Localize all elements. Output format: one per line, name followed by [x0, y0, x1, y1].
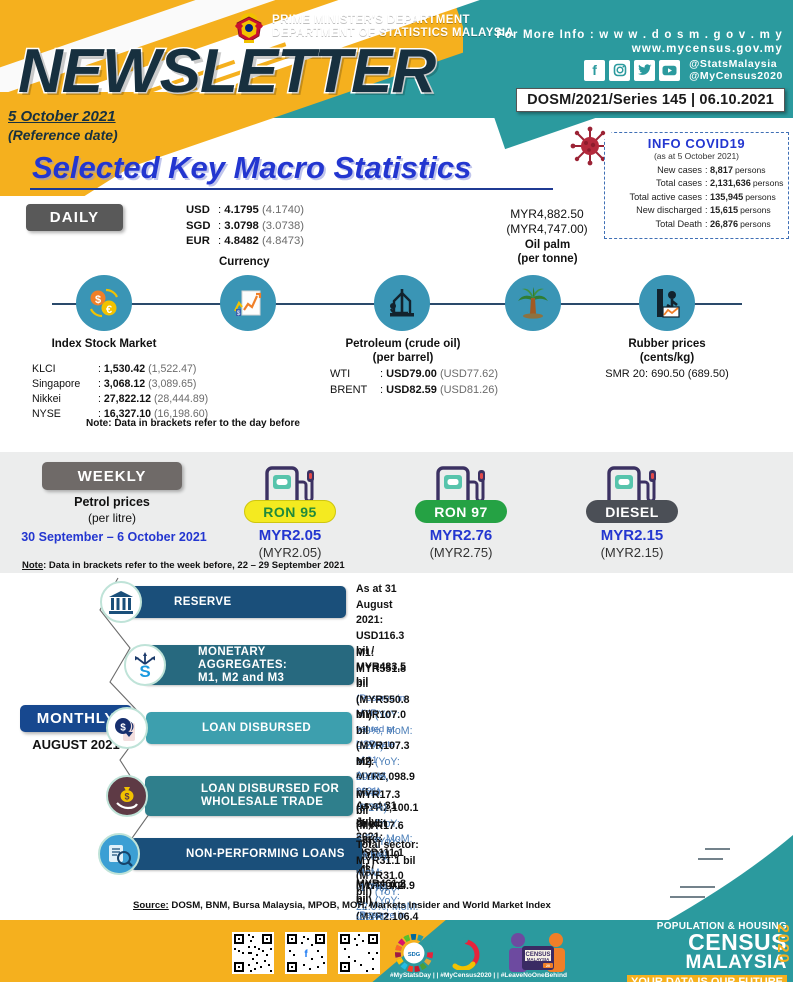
stock-previous: (3,089.65) [148, 378, 196, 390]
petroleum-value: USD79.00 [386, 368, 437, 380]
svg-text:$: $ [120, 723, 126, 734]
covid-unit: persons [735, 164, 766, 177]
currency-rates: USD: 4.1795 (4.1740) SGD: 3.0798 (3.0738… [186, 203, 304, 250]
stock-name: Nikkei [32, 392, 98, 407]
twitter-icon[interactable] [634, 60, 655, 81]
census-wordmark-line-2: CENSUS [577, 932, 787, 953]
series-badge: DOSM/2021/Series 145 | 06.10.2021 [516, 88, 785, 112]
source-text: DOSM, BNM, Bursa Malaysia, MPOB, MOH, Ma… [169, 900, 551, 911]
covid-label: New cases [605, 164, 705, 177]
handle-mycensus2020: @MyCensus2020 [689, 70, 783, 82]
census-wordmark: POPULATION & HOUSING CENSUS MALAYSIA YOU… [577, 921, 787, 982]
daily-badge: DAILY [26, 204, 123, 231]
instagram-icon[interactable] [609, 60, 630, 81]
covid-unit: persons [740, 218, 771, 231]
oil-pump-icon [374, 275, 430, 331]
qr-code-icon[interactable] [232, 932, 274, 974]
covid-value: 135,945 [710, 191, 745, 204]
stock-value: 27,822.12 [104, 393, 151, 405]
stock-previous: (28,444.89) [154, 393, 208, 405]
covid-unit: persons [745, 191, 776, 204]
fx-previous: (4.1740) [262, 204, 304, 216]
oilpalm-value: MYR4,882.50 [497, 207, 597, 221]
newsletter-wordmark: NEWSLETTER [18, 36, 435, 107]
covid-row: Total cases : 2,131,636 persons [605, 177, 788, 190]
oilpalm-previous: (MYR4,747.00) [497, 222, 597, 236]
fuel-label-ron95: RON 95 [244, 500, 336, 523]
fuel-price-ron95: MYR2.05 [210, 527, 370, 544]
svg-text:MALAYSIA: MALAYSIA [527, 957, 550, 962]
census-mascot-icon: CENSUS MALAYSIA 20 [498, 930, 576, 976]
rubber-price-row: SMR 20: 690.50 (689.50) [597, 368, 737, 380]
mystatsday-icon [443, 936, 481, 970]
covid-value: 15,615 [710, 204, 740, 217]
covid-row: New cases : 8,817 persons [605, 164, 788, 177]
petroleum-name: WTI [330, 366, 380, 382]
money-bag-hand-icon: $ [106, 775, 148, 817]
reference-date-label: (Reference date) [8, 127, 118, 143]
fx-value: 4.8482 [224, 235, 259, 247]
loan-money-icon: $ [106, 707, 148, 749]
qr-code-icon[interactable] [338, 932, 380, 974]
fuel-label-ron97: RON 97 [415, 500, 507, 523]
petroleum-previous: (USD81.26) [440, 384, 498, 396]
fuel-price-diesel: MYR2.15 [552, 527, 712, 544]
rubber-caption: Rubber prices (cents/kg) [600, 337, 734, 365]
stock-row: Nikkei: 27,822.12 (28,444.89) [32, 392, 208, 407]
petroleum-row: WTI: USD79.00 (USD77.62) [330, 366, 498, 382]
non-performing-loan-icon [98, 833, 140, 875]
oilpalm-caption-line-1: Oil palm [525, 239, 570, 251]
stock-row: KLCI: 1,530.42 (1,522.47) [32, 362, 208, 377]
covid-info-box: INFO COVID19 (as at 5 October 2021) New … [604, 132, 789, 239]
youtube-icon[interactable] [659, 60, 680, 81]
oilpalm-caption-line-2: (per tonne) [517, 253, 577, 265]
svg-text:$: $ [124, 792, 129, 802]
fx-row: USD: 4.1795 (4.1740) [186, 203, 304, 219]
covid-label: New discharged [605, 204, 705, 217]
facebook-icon[interactable]: f [584, 60, 605, 81]
wholesale-label-line-1: LOAN DISBURSED FOR [201, 783, 339, 796]
census-tagline: YOUR DATA IS OUR FUTURE [627, 975, 787, 982]
fuel-group-diesel: DIESEL MYR2.15 (MYR2.15) [552, 464, 712, 560]
currency-caption: Currency [219, 256, 270, 268]
line-chart-icon: $ [220, 275, 276, 331]
reference-date: 5 October 2021 [8, 108, 116, 125]
svg-text:SDG: SDG [408, 952, 421, 958]
wholesale-label-line-2: WHOLESALE TRADE [201, 796, 323, 809]
petroleum-previous: (USD77.62) [440, 368, 498, 380]
stock-caption: Index Stock Market [24, 337, 184, 351]
svg-text:€: € [106, 304, 112, 316]
fx-row: EUR: 4.8482 (4.8473) [186, 234, 304, 250]
fuel-price-ron97: MYR2.76 [381, 527, 541, 544]
petroleum-name: BRENT [330, 382, 380, 398]
rubber-tapping-icon [639, 275, 695, 331]
fx-row: SGD: 3.0798 (3.0738) [186, 219, 304, 235]
petroleum-value: USD82.59 [386, 384, 437, 396]
fx-code: SGD [186, 219, 218, 235]
rubber-caption-line-2: (cents/kg) [640, 352, 694, 364]
covid-row: Total Death : 26,876 persons [605, 218, 788, 231]
stock-value: 3,068.12 [104, 378, 145, 390]
covid-rows: New cases : 8,817 persons Total cases : … [605, 164, 788, 231]
fuel-previous-ron95: (MYR2.05) [210, 545, 370, 560]
daily-note: Note: Data in brackets refer to the day … [86, 418, 300, 429]
source-note: Source: DOSM, BNM, Bursa Malaysia, MPOB,… [133, 900, 551, 911]
covid-subtitle: (as at 5 October 2021) [605, 151, 788, 161]
stock-value: 1,530.42 [104, 363, 145, 375]
covid-value: 2,131,636 [710, 177, 753, 190]
svg-text:$: $ [95, 294, 101, 306]
footer-hashtags: #MyStatsDay | | #MyCensus2020 | | #Leave… [390, 972, 567, 979]
covid-label: Total active cases [605, 191, 705, 204]
qr-code-facebook-icon[interactable]: f [285, 932, 327, 974]
handle-statsmalaysia: @StatsMalaysia [689, 58, 783, 70]
fuel-group-ron95: RON 95 MYR2.05 (MYR2.05) [210, 464, 370, 560]
stock-name: KLCI [32, 362, 98, 377]
petroleum-rows: WTI: USD79.00 (USD77.62) BRENT: USD82.59… [330, 366, 498, 398]
svg-text:20: 20 [546, 964, 550, 968]
petroleum-caption: Petroleum (crude oil) (per barrel) [318, 337, 488, 365]
social-handles: @StatsMalaysia @MyCensus2020 [689, 58, 783, 82]
covid-row: New discharged : 15,615 persons [605, 204, 788, 217]
sdg-wheel-icon: SDG [395, 934, 433, 972]
money-growth-icon: S [124, 644, 166, 686]
weekly-badge: WEEKLY [42, 462, 182, 490]
more-info-line-2: www.mycensus.gov.my [496, 42, 783, 56]
petroleum-row: BRENT: USD82.59 (USD81.26) [330, 382, 498, 398]
petroleum-caption-line-2: (per barrel) [373, 352, 434, 364]
oilpalm-caption: Oil palm (per tonne) [490, 238, 605, 266]
stock-row: Singapore: 3,068.12 (3,089.65) [32, 377, 208, 392]
covid-title: INFO COVID19 [605, 136, 788, 151]
fx-previous: (3.0738) [262, 220, 304, 232]
fx-code: EUR [186, 234, 218, 250]
title-divider [30, 188, 553, 190]
petrol-caption: Petrol prices [42, 495, 182, 509]
fx-value: 3.0798 [224, 220, 259, 232]
fx-previous: (4.8473) [262, 235, 304, 247]
page-title: Selected Key Macro Statistics [32, 150, 471, 186]
svg-text:S: S [139, 662, 150, 680]
covid-unit: persons [753, 177, 784, 190]
petroleum-caption-line-1: Petroleum (crude oil) [345, 338, 460, 350]
palm-tree-icon [505, 275, 561, 331]
stock-previous: (1,522.47) [148, 363, 196, 375]
more-info-block: For More Info : w w w . d o s m . g o v … [496, 28, 783, 56]
covid-value: 26,876 [710, 218, 740, 231]
more-info-line-1: For More Info : w w w . d o s m . g o v … [496, 28, 783, 42]
census-year: 2020 [773, 924, 791, 964]
source-prefix: Source: [133, 900, 169, 911]
teal-swoosh-decoration [620, 835, 793, 925]
petrol-sub-caption: (per litre) [42, 511, 182, 525]
covid-unit: persons [740, 204, 771, 217]
dept-line-1: PRIME MINISTER'S DEPARTMENT [272, 14, 470, 26]
loan-disbursed-bar-label: LOAN DISBURSED [146, 712, 352, 744]
petrol-date-range: 30 September – 6 October 2021 [8, 530, 220, 544]
fx-value: 4.1795 [224, 204, 259, 216]
stock-name: Singapore [32, 377, 98, 392]
newsletter-page: PRIME MINISTER'S DEPARTMENT DEPARTMENT O… [0, 0, 793, 982]
fuel-label-diesel: DIESEL [586, 500, 678, 523]
covid-value: 8,817 [710, 164, 735, 177]
fuel-previous-ron97: (MYR2.75) [381, 545, 541, 560]
reserve-bar-label: RESERVE [118, 586, 346, 618]
covid-label: Total Death [605, 218, 705, 231]
stock-index-rows: KLCI: 1,530.42 (1,522.47) Singapore: 3,0… [32, 362, 208, 422]
monetary-label-line-2: M1, M2 and M3 [198, 672, 284, 685]
fx-code: USD [186, 203, 218, 219]
bank-building-icon [100, 581, 142, 623]
fuel-previous-diesel: (MYR2.15) [552, 545, 712, 560]
social-links[interactable]: f @StatsMalaysia @MyCensus2020 [584, 58, 783, 82]
currency-exchange-icon: $ € [76, 275, 132, 331]
monetary-label-line-1: MONETARY AGGREGATES: [198, 646, 354, 672]
npl-bar-label: NON-PERFORMING LOANS [130, 838, 362, 870]
page-footer: f [0, 920, 793, 982]
covid-label: Total cases [605, 177, 705, 190]
fuel-group-ron97: RON 97 MYR2.76 (MYR2.75) [381, 464, 541, 560]
covid-row: Total active cases : 135,945 persons [605, 191, 788, 204]
rubber-caption-line-1: Rubber prices [628, 338, 705, 350]
census-wordmark-line-3: MALAYSIA [577, 953, 787, 972]
